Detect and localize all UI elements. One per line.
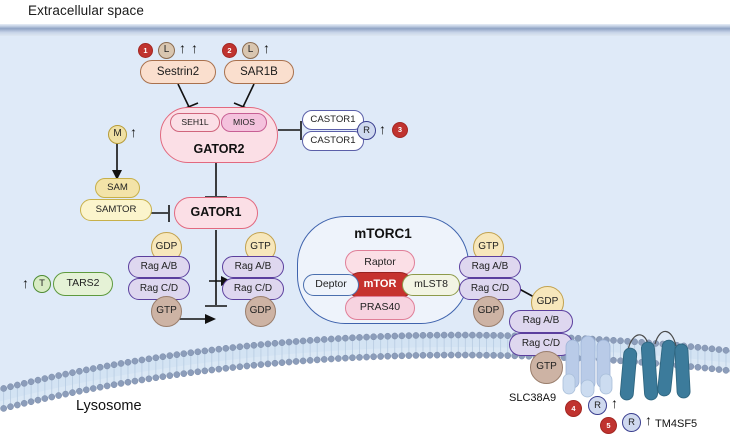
node-seh1l[interactable]: SEH1L [170, 113, 220, 132]
rag-ab-label: Rag A/B [235, 262, 272, 273]
nucleotide-label: GDP [478, 306, 500, 317]
badge-1[interactable]: 1 [138, 43, 153, 58]
node-sestrin2[interactable]: Sestrin2 [140, 60, 216, 84]
rag-cd-label: Rag C/D [522, 339, 560, 350]
pras40-label: PRAS40 [360, 302, 400, 313]
nucleotide-label: GTP [156, 306, 177, 317]
node-samtor[interactable]: SAMTOR [80, 199, 152, 221]
node-pras40[interactable]: PRAS40 [345, 296, 415, 320]
receptor-label-slc38a9: R [594, 401, 601, 411]
ligand-label-sestrin2: L [164, 45, 170, 56]
sam-label: SAM [107, 183, 128, 193]
receptor-label-castor: R [363, 126, 370, 136]
badge-5[interactable]: 5 [600, 417, 617, 434]
up-arrow-methionine: ↑ [130, 125, 137, 139]
plasma-membrane [0, 24, 730, 36]
receptor-circle-tm4sf5: R [622, 413, 641, 432]
up-arrow-slc38a9: ↑ [611, 396, 618, 410]
slc38a9-label: SLC38A9 [509, 392, 556, 404]
node-gator1[interactable]: GATOR1 [174, 197, 258, 229]
node-rag-ab-right[interactable]: Rag A/B [459, 256, 521, 278]
node-mios[interactable]: MIOS [221, 113, 267, 132]
node-tars2[interactable]: TARS2 [53, 272, 113, 296]
receptor-circle-castor: R [357, 121, 376, 140]
extracellular-space-label: Extracellular space [28, 3, 144, 18]
ligand-label-sar1b: L [248, 45, 254, 56]
lysosome-label: Lysosome [76, 398, 142, 414]
threonine-circle: T [33, 275, 51, 293]
rag-ab-label: Rag A/B [141, 262, 178, 273]
badge-2-text: 2 [227, 47, 231, 55]
ligand-circle-sar1b: L [242, 42, 259, 59]
up-arrow-castor: ↑ [379, 122, 386, 136]
methionine-circle: M [108, 125, 127, 144]
badge-4[interactable]: 4 [565, 400, 582, 417]
node-rag-ab-left[interactable]: Rag A/B [128, 256, 190, 278]
node-castor1-top[interactable]: CASTOR1 [302, 110, 364, 130]
nucleotide-label: GDP [537, 297, 559, 308]
rag-ab-label: Rag A/B [472, 262, 509, 273]
methionine-label: M [113, 129, 121, 140]
node-castor1-bottom[interactable]: CASTOR1 [302, 131, 364, 151]
badge-5-text: 5 [606, 422, 610, 430]
nucleotide-gdp-right-bottom: GDP [473, 296, 504, 327]
deptor-label: Deptor [315, 279, 347, 290]
node-sar1b[interactable]: SAR1B [224, 60, 294, 84]
sestrin2-label: Sestrin2 [157, 66, 199, 78]
ligand-circle-sestrin2: L [158, 42, 175, 59]
rag-cd-label: Rag C/D [234, 284, 272, 295]
receptor-label-tm4sf5: R [628, 418, 635, 428]
node-deptor[interactable]: Deptor [303, 274, 359, 296]
up-arrow-sar1b: ↑ [263, 41, 270, 55]
threonine-label: T [39, 279, 45, 289]
node-rag-ab-mid[interactable]: Rag A/B [222, 256, 284, 278]
receptor-circle-slc38a9: R [588, 396, 607, 415]
mtorc1-title: mTORC1 [298, 227, 468, 241]
badge-1-text: 1 [143, 47, 147, 55]
gator1-label: GATOR1 [191, 206, 242, 219]
tm4sf5-label: TM4SF5 [655, 418, 697, 430]
mlst8-label: mLST8 [414, 279, 448, 290]
nucleotide-label: GTP [536, 362, 557, 373]
rag-cd-label: Rag C/D [471, 284, 509, 295]
sar1b-label: SAR1B [240, 66, 278, 78]
nucleotide-label: GDP [250, 306, 272, 317]
rag-ab-label: Rag A/B [523, 316, 560, 327]
castor1-bottom-label: CASTOR1 [310, 136, 355, 146]
mios-label: MIOS [233, 118, 255, 127]
nucleotide-gtp-lower-bottom: GTP [530, 351, 563, 384]
up-arrow-sestrin2-b: ↑ [191, 41, 198, 55]
node-mlst8[interactable]: mLST8 [402, 274, 460, 296]
tars2-label: TARS2 [66, 278, 99, 289]
up-arrow-tm4sf5: ↑ [645, 413, 652, 427]
nucleotide-gtp-left-bottom: GTP [151, 296, 182, 327]
node-sam[interactable]: SAM [95, 178, 140, 198]
badge-3-text: 3 [398, 126, 402, 134]
gator2-label: GATOR2 [161, 143, 277, 156]
node-rag-ab-lower[interactable]: Rag A/B [509, 310, 573, 333]
figure-canvas: Extracellular space Lysosome [0, 0, 730, 436]
up-arrow-tars2: ↑ [22, 276, 29, 290]
badge-2[interactable]: 2 [222, 43, 237, 58]
nucleotide-gdp-mid-bottom: GDP [245, 296, 276, 327]
samtor-label: SAMTOR [96, 205, 137, 215]
nucleotide-label: GTP [478, 242, 499, 253]
nucleotide-label: GDP [156, 242, 178, 253]
up-arrow-sestrin2-a: ↑ [179, 41, 186, 55]
seh1l-label: SEH1L [181, 118, 208, 127]
badge-3[interactable]: 3 [392, 122, 408, 138]
rag-cd-label: Rag C/D [140, 284, 178, 295]
badge-4-text: 4 [571, 405, 575, 413]
mtor-label: mTOR [364, 279, 397, 291]
raptor-label: Raptor [364, 257, 396, 268]
nucleotide-label: GTP [250, 242, 271, 253]
castor1-top-label: CASTOR1 [310, 115, 355, 125]
